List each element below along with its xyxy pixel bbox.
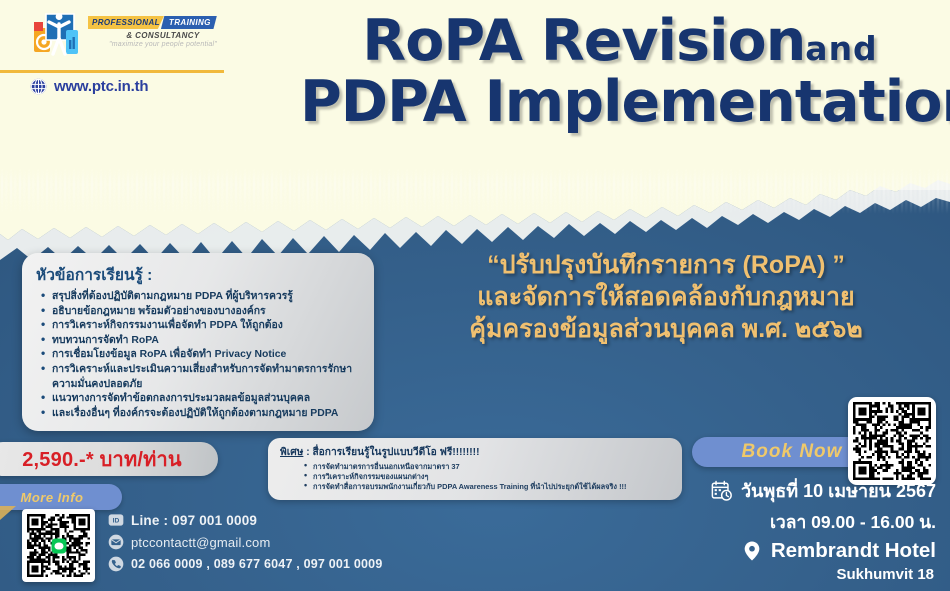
learning-topic-item: และเรื่องอื่นๆ ที่องค์กรจะต้องปฏิบัติให้… xyxy=(36,407,362,420)
contact-text: ptccontactt@gmail.com xyxy=(131,535,271,550)
special-heading-label: พิเศษ xyxy=(280,447,303,458)
title-line-1: RoPA Revisionand xyxy=(300,14,940,69)
calendar-clock-icon xyxy=(711,480,733,502)
title-main-text: RoPA Revision xyxy=(362,8,805,74)
headline-line-3: คุ้มครองข้อมูลส่วนบุคคล พ.ศ. ๒๕๖๒ xyxy=(386,314,946,346)
gold-divider-rule xyxy=(0,70,224,73)
contact-list: IDLine : 097 001 0009ptccontactt@gmail.c… xyxy=(108,512,408,578)
special-heading: พิเศษ : สื่อการเรียนรู้ในรูปแบบวีดีโอ ฟร… xyxy=(280,444,672,460)
learning-topic-item: อธิบายข้อกฎหมาย พร้อมตัวอย่างของบางองค์ก… xyxy=(36,305,362,318)
poster-root: PROFESSIONAL TRAINING & CONSULTANCY "max… xyxy=(0,0,950,591)
price-text: 2,590.-* บาท/ท่าน xyxy=(22,443,182,475)
learning-topic-item: แนวทางการจัดทำข้อตกลงการประมวลผลข้อมูลส่… xyxy=(36,392,362,405)
globe-icon xyxy=(30,78,47,95)
contact-text: Line : 097 001 0009 xyxy=(131,513,257,528)
learning-topics-heading: หัวข้อการเรียนรู้ : xyxy=(36,262,362,287)
learning-topic-item: การเชื่อมโยงข้อมูล RoPA เพื่อจัดทำ Priva… xyxy=(36,348,362,361)
learning-topic-item: ทบทวนการจัดทำ RoPA xyxy=(36,334,362,347)
learning-topic-item: สรุปสิ่งที่ต้องปฏิบัติตามกฎหมาย PDPA ที่… xyxy=(36,290,362,303)
event-venue-sub-text: Sukhumvit 18 xyxy=(636,566,936,583)
event-details: วันพุธที่ 10 เมษายน 2567 เวลา 09.00 - 16… xyxy=(636,476,936,583)
event-venue-row: Rembrandt Hotel xyxy=(636,539,936,563)
more-info-button[interactable]: More Info xyxy=(0,484,122,510)
learning-topic-item: การวิเคราะห์กิจกรรมงานเพื่อจัดทำ PDPA ให… xyxy=(36,319,362,332)
contact-row[interactable]: IDLine : 097 001 0009 xyxy=(108,512,408,528)
special-offer-item: การวิเคราะห์กิจกรรมของแผนกต่างๆ xyxy=(304,472,672,482)
event-date-text: วันพุธที่ 10 เมษายน 2567 xyxy=(741,476,936,505)
contact-row[interactable]: ptccontactt@gmail.com xyxy=(108,534,408,550)
page-title: RoPA Revisionand PDPA Implementation xyxy=(300,14,940,129)
logo-consultancy-text: & CONSULTANCY xyxy=(88,31,238,40)
logo-training-text: TRAINING xyxy=(161,16,217,29)
headline-line-2: และจัดการให้สอดคล้องกับกฎหมาย xyxy=(386,282,946,314)
qr-code-booking-icon xyxy=(853,402,931,480)
price-badge: 2,590.-* บาท/ท่าน xyxy=(0,442,218,476)
event-date-row: วันพุธที่ 10 เมษายน 2567 xyxy=(636,476,936,505)
contact-text: 02 066 0009 , 089 677 6047 , 097 001 000… xyxy=(131,557,382,571)
phone-icon xyxy=(108,556,124,572)
line-app-icon xyxy=(51,538,66,553)
event-time-text: เวลา 09.00 - 16.00 น. xyxy=(770,508,936,536)
special-offer-item: การจัดทำสื่อการอบรมพนักงานเกี่ยวกับ PDPA… xyxy=(304,482,672,492)
svg-text:ID: ID xyxy=(113,518,120,525)
headline-line-1: “ปรับปรุงบันทึกรายการ (RoPA) ” xyxy=(386,250,946,282)
company-logo: PROFESSIONAL TRAINING & CONSULTANCY "max… xyxy=(26,8,236,68)
envelope-icon xyxy=(108,534,124,550)
website-link[interactable]: www.ptc.in.th xyxy=(30,78,148,95)
learning-topics-list: สรุปสิ่งที่ต้องปฏิบัติตามกฎหมาย PDPA ที่… xyxy=(36,290,362,420)
special-offer-card: พิเศษ : สื่อการเรียนรู้ในรูปแบบวีดีโอ ฟร… xyxy=(268,438,682,500)
special-offer-item: การจัดทำมาตรการอื่นนอกเหนือจากมาตรา 37 xyxy=(304,462,672,472)
more-info-label: More Info xyxy=(21,490,84,505)
contact-row[interactable]: 02 066 0009 , 089 677 6047 , 097 001 000… xyxy=(108,556,408,572)
title-line-2: PDPA Implementation xyxy=(300,75,940,130)
learning-topic-item: ความมั่นคงปลอดภัย xyxy=(36,378,362,391)
logo-professional-text: PROFESSIONAL xyxy=(88,16,164,29)
title-and-text: and xyxy=(805,29,877,68)
website-url-text: www.ptc.in.th xyxy=(54,78,148,95)
special-heading-rest: : สื่อการเรียนรู้ในรูปแบบวีดีโอ ฟรี!!!!!… xyxy=(303,447,479,458)
ptc-logo-mark xyxy=(32,10,88,66)
event-venue-text: Rembrandt Hotel xyxy=(771,539,936,563)
book-now-label: Book Now xyxy=(742,441,843,463)
line-id-icon: ID xyxy=(108,512,124,528)
special-offer-list: การจัดทำมาตรการอื่นนอกเหนือจากมาตรา 37กา… xyxy=(304,462,672,493)
thai-headline: “ปรับปรุงบันทึกรายการ (RoPA) ” และจัดการ… xyxy=(386,250,946,345)
map-pin-icon xyxy=(741,540,763,562)
logo-tagline: "maximize your people potential" xyxy=(88,41,238,48)
learning-topic-item: การวิเคราะห์และประเมินความเสี่ยงสำหรับกา… xyxy=(36,363,362,376)
learning-topics-card: หัวข้อการเรียนรู้ : สรุปสิ่งที่ต้องปฏิบั… xyxy=(22,253,374,431)
event-time-row: เวลา 09.00 - 16.00 น. xyxy=(636,508,936,536)
booking-qr-code[interactable] xyxy=(848,397,936,485)
line-qr-code[interactable] xyxy=(22,509,95,582)
